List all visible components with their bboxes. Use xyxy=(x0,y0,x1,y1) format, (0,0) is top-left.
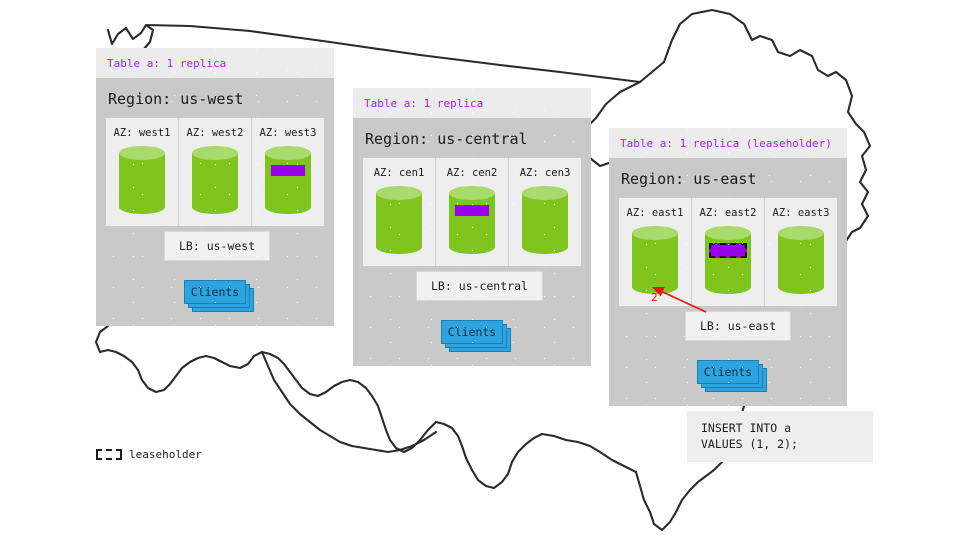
cylinder-top xyxy=(632,226,678,240)
cylinder-top xyxy=(705,226,751,240)
clients-label: Clients xyxy=(441,320,503,344)
replica-marker-west3 xyxy=(271,165,305,176)
az-strip-us-east: AZ: east1 AZ: east2 xyxy=(619,198,837,306)
cylinder-body xyxy=(778,233,824,287)
cylinder-top xyxy=(522,186,568,200)
region-title-us-central: Region: us-central xyxy=(363,118,581,158)
diagram-canvas: Table a: 1 replica Region: us-west AZ: w… xyxy=(0,0,960,540)
cylinder-top xyxy=(265,146,311,160)
cylinder-body xyxy=(265,153,311,207)
az-cell-cen3[interactable]: AZ: cen3 xyxy=(509,158,581,266)
cylinder-body xyxy=(522,193,568,247)
panel-header-us-west: Table a: 1 replica xyxy=(96,48,334,78)
node-cylinder-cen2[interactable] xyxy=(449,186,495,254)
node-cylinder-west3[interactable] xyxy=(265,146,311,214)
node-cylinder-east3[interactable] xyxy=(778,226,824,294)
sql-statement-box: INSERT INTO a VALUES (1, 2); xyxy=(687,411,873,462)
cylinder-top xyxy=(192,146,238,160)
dashed-rect-icon xyxy=(96,449,122,460)
az-cell-cen2[interactable]: AZ: cen2 xyxy=(436,158,509,266)
clients-label: Clients xyxy=(184,280,246,304)
az-cell-west1[interactable]: AZ: west1 xyxy=(106,118,179,226)
node-cylinder-cen3[interactable] xyxy=(522,186,568,254)
az-strip-us-central: AZ: cen1 AZ: cen2 xyxy=(363,158,581,266)
panel-header-us-east: Table a: 1 replica (leaseholder) xyxy=(609,128,847,158)
region-title-us-west: Region: us-west xyxy=(106,78,324,118)
az-cell-east3[interactable]: AZ: east3 xyxy=(765,198,837,306)
az-cell-west2[interactable]: AZ: west2 xyxy=(179,118,252,226)
az-label-east3: AZ: east3 xyxy=(765,207,837,219)
clients-stack-us-west[interactable]: Clients xyxy=(184,280,246,304)
az-cell-east2[interactable]: AZ: east2 xyxy=(692,198,765,306)
load-balancer-us-west[interactable]: LB: us-west xyxy=(164,231,270,261)
cylinder-body xyxy=(376,193,422,247)
az-cell-cen1[interactable]: AZ: cen1 xyxy=(363,158,436,266)
node-cylinder-east2[interactable] xyxy=(705,226,751,294)
node-cylinder-west2[interactable] xyxy=(192,146,238,214)
cylinder-top xyxy=(778,226,824,240)
region-title-us-east: Region: us-east xyxy=(619,158,837,198)
node-cylinder-east1[interactable] xyxy=(632,226,678,294)
az-label-east2: AZ: east2 xyxy=(692,207,764,219)
load-balancer-us-east[interactable]: LB: us-east xyxy=(685,311,791,341)
legend: leaseholder xyxy=(96,448,202,461)
panel-body-us-east: Region: us-east AZ: east1 AZ: east2 xyxy=(609,158,847,316)
clients-stack-us-east[interactable]: Clients xyxy=(697,360,759,384)
az-label-cen2: AZ: cen2 xyxy=(436,167,508,179)
az-label-west3: AZ: west3 xyxy=(252,127,324,139)
cylinder-body xyxy=(449,193,495,247)
cylinder-body xyxy=(705,233,751,287)
clients-label: Clients xyxy=(697,360,759,384)
cylinder-top xyxy=(119,146,165,160)
az-label-west2: AZ: west2 xyxy=(179,127,251,139)
panel-body-us-west: Region: us-west AZ: west1 AZ: west2 xyxy=(96,78,334,236)
az-cell-east1[interactable]: AZ: east1 xyxy=(619,198,692,306)
load-balancer-us-central[interactable]: LB: us-central xyxy=(416,271,543,301)
leaseholder-replica-marker-east2 xyxy=(709,243,747,258)
az-label-east1: AZ: east1 xyxy=(619,207,691,219)
az-label-cen1: AZ: cen1 xyxy=(363,167,435,179)
cylinder-top xyxy=(376,186,422,200)
region-panel-us-central: Table a: 1 replica Region: us-central AZ… xyxy=(353,88,591,366)
node-cylinder-cen1[interactable] xyxy=(376,186,422,254)
node-cylinder-west1[interactable] xyxy=(119,146,165,214)
cylinder-body xyxy=(632,233,678,287)
replica-marker-cen2 xyxy=(455,205,489,216)
clients-stack-us-central[interactable]: Clients xyxy=(441,320,503,344)
cylinder-top xyxy=(449,186,495,200)
cylinder-body xyxy=(119,153,165,207)
region-panel-us-east: Table a: 1 replica (leaseholder) Region:… xyxy=(609,128,847,406)
region-panel-us-west: Table a: 1 replica Region: us-west AZ: w… xyxy=(96,48,334,326)
az-label-west1: AZ: west1 xyxy=(106,127,178,139)
az-label-cen3: AZ: cen3 xyxy=(509,167,581,179)
arrow-step-label-2: 2 xyxy=(651,291,658,304)
az-strip-us-west: AZ: west1 AZ: west2 xyxy=(106,118,324,226)
panel-header-us-central: Table a: 1 replica xyxy=(353,88,591,118)
legend-label: leaseholder xyxy=(129,448,202,461)
az-cell-west3[interactable]: AZ: west3 xyxy=(252,118,324,226)
panel-body-us-central: Region: us-central AZ: cen1 AZ: cen2 xyxy=(353,118,591,276)
cylinder-body xyxy=(192,153,238,207)
